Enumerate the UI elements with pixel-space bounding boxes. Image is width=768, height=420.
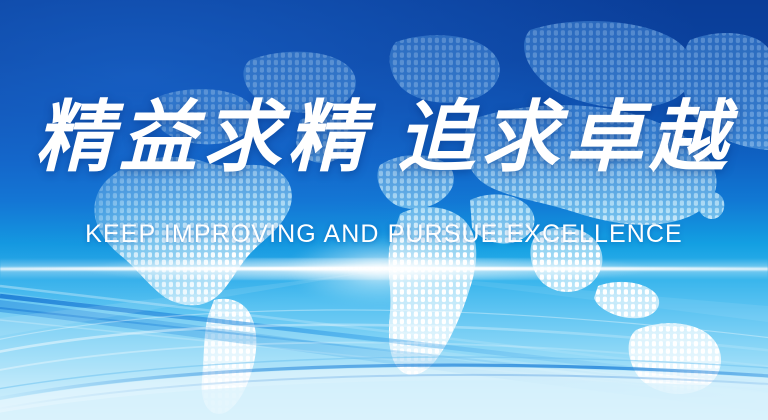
headline-chinese: 精益求精追求卓越 bbox=[0, 86, 768, 190]
banner: 精益求精追求卓越 KEEP IMPROVING AND PURSUE EXCEL… bbox=[0, 0, 768, 420]
headline-part-2: 追求卓越 bbox=[397, 92, 733, 183]
swoosh-curves bbox=[0, 0, 768, 420]
headline-part-1: 精益求精 bbox=[35, 92, 371, 183]
subtitle-english: KEEP IMPROVING AND PURSUE EXCELLENCE bbox=[0, 219, 768, 249]
light-streak-core bbox=[0, 267, 768, 270]
